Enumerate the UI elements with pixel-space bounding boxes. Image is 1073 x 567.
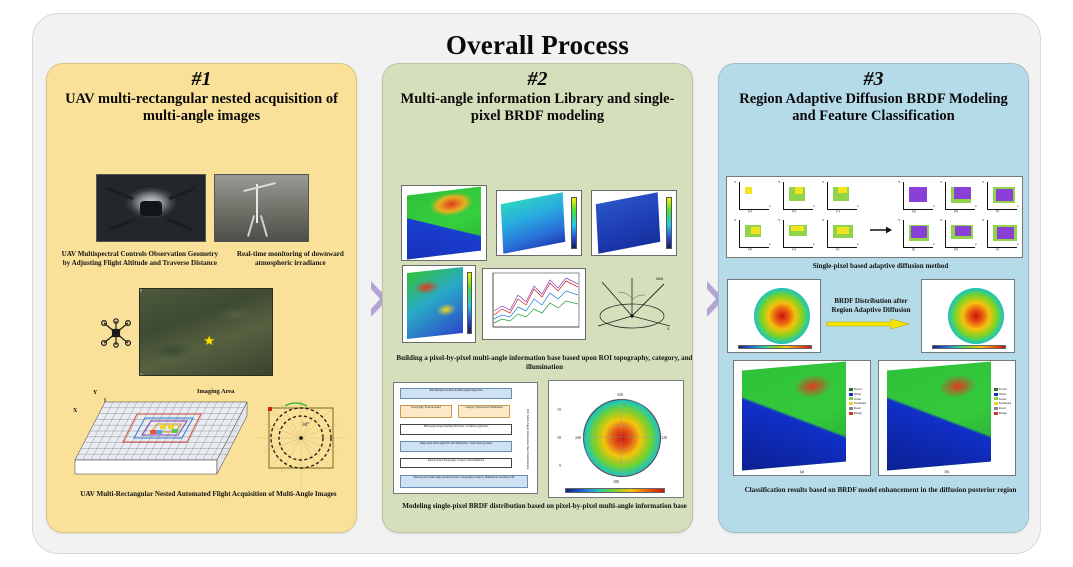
panel-2-second-row: sun x: [389, 260, 688, 348]
page-title: Overall Process: [33, 30, 1042, 61]
illumination-map: [591, 190, 677, 256]
information-base-flowchart: ROI Multispectral Data & Multi-angle Ima…: [393, 382, 538, 494]
diffusion-input-plots: Yx(a) Yx(b) Yx(c): [731, 179, 863, 255]
panel-2-caption-2: Modeling single-pixel BRDF distribution …: [389, 500, 693, 511]
panel-1-photo-captions: UAV Multispectral Controls Observation G…: [55, 248, 350, 268]
brdf-diffusion-label-block: BRDF Distribution after Region Adaptive …: [825, 297, 917, 335]
imaging-area-label: Imaging Area: [197, 388, 234, 395]
classification-result-a: Forest Water Grass Farmland Road Range (…: [733, 360, 871, 476]
brdf-diffusion-comparison: BRDF Distribution after Region Adaptive …: [727, 278, 1022, 354]
brdf-after-diffusion: [921, 279, 1015, 353]
panel-3-caption-2: Classification results based on BRDF mod…: [725, 484, 1029, 495]
satellite-imagery: ★: [139, 288, 273, 376]
svg-text:15: 15: [557, 407, 561, 412]
svg-text:30°: 30°: [302, 421, 309, 428]
axis-y-label: Y: [93, 390, 97, 396]
subplot-g: Yx(g): [895, 179, 937, 217]
panel-3-caption-1: Single-pixel based adaptive diffusion me…: [725, 260, 1029, 271]
subplot-k: Yx(k): [937, 217, 979, 255]
site-marker-star: ★: [203, 334, 215, 347]
overall-process-frame: Overall Process #1 UAV multi-rectangular…: [32, 13, 1041, 554]
spectral-curves-plot: [482, 268, 586, 340]
roi-multi-angle-map: [402, 265, 476, 343]
panel-3[interactable]: #3 Region Adaptive Diffusion BRDF Modeli…: [718, 63, 1029, 533]
panel-1-bottom-caption: UAV Multi-Rectangular Nested Automated F…: [53, 488, 357, 499]
dem-topography-map: [496, 190, 582, 256]
subplot-e: Yx(e): [775, 217, 819, 255]
svg-text:x: x: [667, 327, 670, 332]
uav-multispectral-photo: [96, 174, 206, 242]
diffusion-output-plots: Yx(g) Yx(h) Yx(i): [895, 179, 1021, 255]
subplot-c: Yx(c): [819, 179, 863, 217]
classification-results: Forest Water Grass Farmland Road Range (…: [727, 360, 1022, 478]
svg-text:180: 180: [613, 479, 619, 484]
subplot-label-a: (a): [734, 469, 870, 474]
panel-1[interactable]: #1 UAV multi-rectangular nested acquisit…: [46, 63, 357, 533]
panel-1-title: UAV multi-rectangular nested acquisition…: [47, 91, 356, 125]
irradiance-photo-caption: Real-time monitoring of downward atmosph…: [231, 248, 350, 268]
irradiance-monitor-photo: [214, 174, 309, 242]
panel-2-title: Multi-angle information Library and sing…: [383, 91, 692, 125]
svg-text:330: 330: [617, 392, 623, 397]
subplot-j: Yx(j): [895, 217, 937, 255]
adaptive-diffusion-subplot-grid: Yx(a) Yx(b) Yx(c): [726, 176, 1023, 258]
uav-top-view-icon: [99, 318, 133, 348]
subplot-l: Yx(l): [979, 217, 1021, 255]
panel-2-number: #2: [383, 69, 692, 90]
svg-text:10: 10: [557, 435, 561, 440]
classification-legend-a: Forest Water Grass Farmland Road Range: [849, 387, 866, 416]
classification-result-b: Forest Water Grass Farmland Road Range (…: [878, 360, 1016, 476]
yellow-arrow-icon: [825, 317, 917, 335]
svg-text:120: 120: [661, 435, 667, 440]
panel-3-title: Region Adaptive Diffusion BRDF Modeling …: [719, 91, 1028, 125]
flowchart-sidebar-label: ROI Multi-Angle Information Base Establi…: [522, 393, 534, 485]
subplot-d: Yx(d): [731, 217, 775, 255]
svg-text:240: 240: [575, 435, 581, 440]
brdf-polar-distribution: 330 240 120 180 15 10 5: [548, 380, 684, 498]
subplot-f: Yx(f): [819, 217, 863, 255]
panel-2[interactable]: #2 Multi-angle information Library and s…: [382, 63, 693, 533]
uav-photo-caption: UAV Multispectral Controls Observation G…: [55, 248, 225, 268]
subplot-i: Yx(i): [979, 179, 1021, 217]
classification-legend-b: Forest Water Grass Farmland Road Range: [994, 387, 1011, 416]
brdf-diffusion-text: BRDF Distribution after Region Adaptive …: [825, 297, 917, 314]
svg-text:5: 5: [559, 463, 561, 468]
process-arrow-icon: [870, 221, 892, 229]
panel-2-map-row: [390, 184, 687, 262]
subplot-b: Yx(b): [775, 179, 819, 217]
subplot-a: Yx(a): [731, 179, 775, 217]
brdf-before-diffusion: [727, 279, 821, 353]
panel-1-number: #1: [47, 69, 356, 90]
roi-classification-map: [401, 185, 487, 261]
panel-1-photo-row: [57, 174, 348, 246]
subplot-h: Yx(h): [937, 179, 979, 217]
panel-2-caption-1: Building a pixel-by-pixel multi-angle in…: [389, 352, 693, 372]
figure-canvas: Overall Process #1 UAV multi-rectangular…: [0, 0, 1073, 567]
study-area-satellite-image: ★: [47, 286, 357, 378]
panel-3-number: #3: [719, 69, 1028, 90]
observation-geometry-diagram: sun x: [592, 266, 676, 342]
nested-flight-grid-diagram: Imaging Area Y X: [47, 382, 357, 533]
subplot-label-b: (b): [879, 469, 1015, 474]
svg-text:sun: sun: [656, 277, 663, 282]
